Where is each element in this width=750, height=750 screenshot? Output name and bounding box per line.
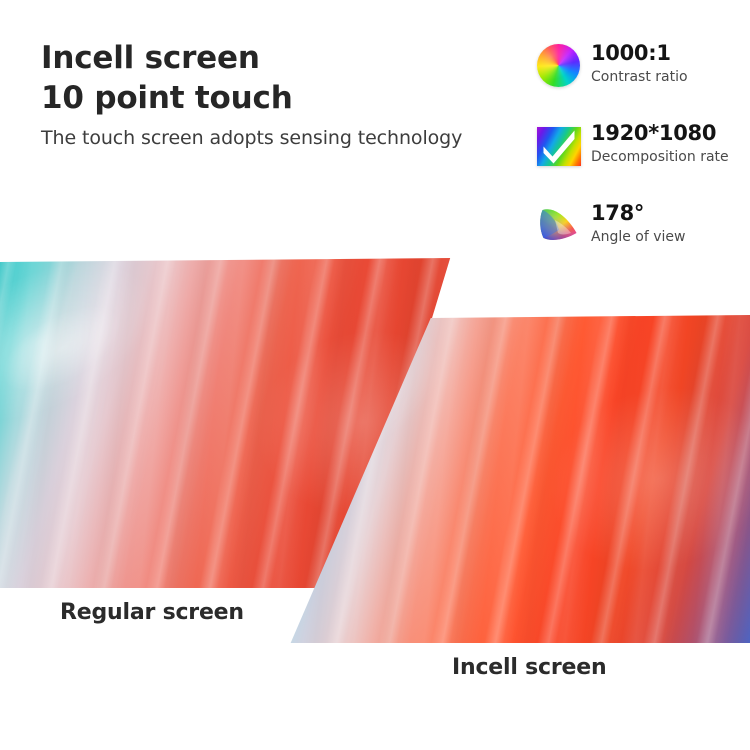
spec-text-angle-of-view: 178° Angle of view <box>591 201 685 247</box>
spec-text-decomposition-rate: 1920*1080 Decomposition rate <box>591 121 729 167</box>
incell-screen-caption: Incell screen <box>452 655 606 680</box>
spec-value-contrast-ratio: 1000:1 <box>591 41 688 66</box>
spec-value-angle-of-view: 178° <box>591 201 685 226</box>
regular-screen-caption: Regular screen <box>60 600 244 625</box>
spec-value-decomposition-rate: 1920*1080 <box>591 121 729 146</box>
rainbow-check-icon <box>537 124 581 168</box>
spec-text-contrast-ratio: 1000:1 Contrast ratio <box>591 41 688 87</box>
promo-page: Incell screen 10 point touch The touch s… <box>0 0 750 750</box>
color-gamut-icon <box>537 204 581 248</box>
headline-subtitle: The touch screen adopts sensing technolo… <box>41 127 511 149</box>
headline-line-1: Incell screen <box>41 38 511 78</box>
headline-line-2: 10 point touch <box>41 78 511 118</box>
color-wheel-icon <box>537 44 581 88</box>
spec-label-contrast-ratio: Contrast ratio <box>591 68 688 87</box>
page-title: Incell screen 10 point touch The touch s… <box>41 38 511 149</box>
spec-item-angle-of-view: 178° Angle of view <box>534 201 750 281</box>
spec-item-decomposition-rate: 1920*1080 Decomposition rate <box>534 121 750 201</box>
spec-label-angle-of-view: Angle of view <box>591 228 685 247</box>
spec-list: 1000:1 Contrast ratio 1920*1080 Decompos… <box>534 41 750 281</box>
spec-label-decomposition-rate: Decomposition rate <box>591 148 729 167</box>
spec-item-contrast-ratio: 1000:1 Contrast ratio <box>534 41 750 121</box>
